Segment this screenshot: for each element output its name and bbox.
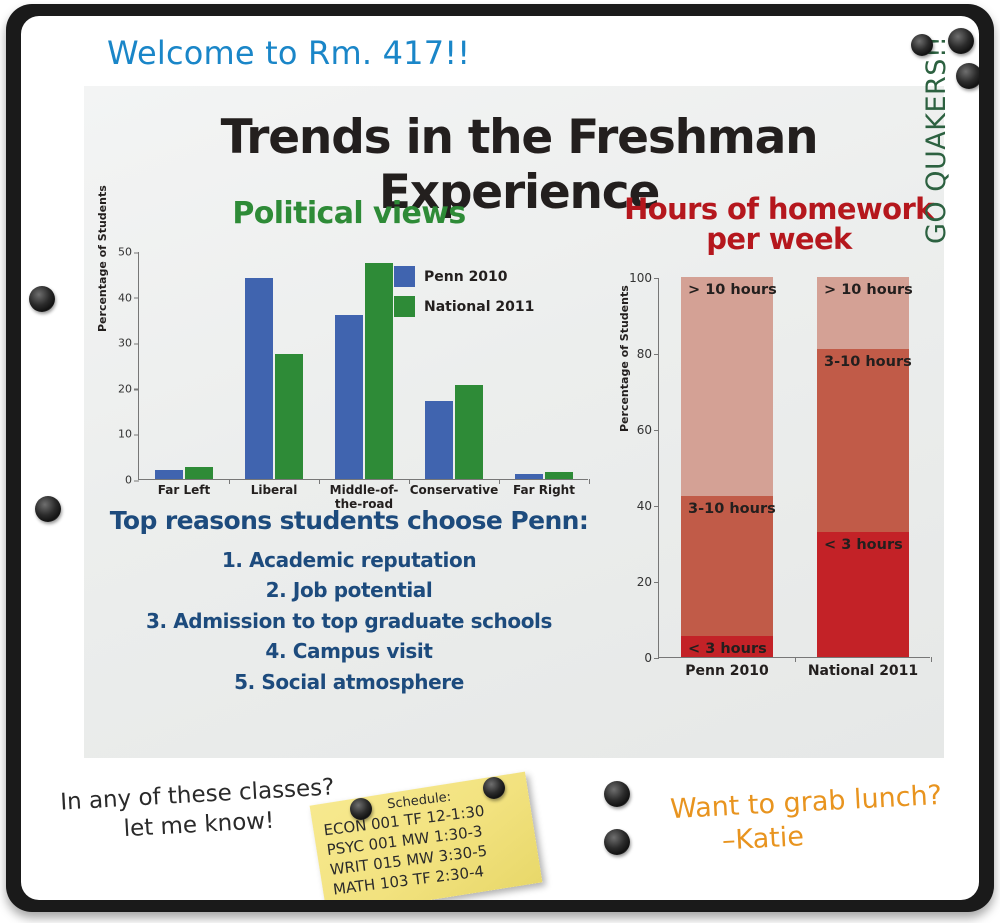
stacked-bar-segment: > 10 hours xyxy=(681,277,773,496)
stacked-chart-plot-area: 020406080100< 3 hours3-10 hours> 10 hour… xyxy=(658,278,930,658)
legend-swatch-icon xyxy=(394,296,415,317)
bar-chart-x-tick: Far Right xyxy=(489,484,599,498)
magnet-icon[interactable] xyxy=(604,829,630,855)
stacked-chart-y-tick: 80 xyxy=(637,347,659,361)
reason-item: 4. Campus visit xyxy=(94,636,604,666)
bar-chart-x-minor-tick xyxy=(229,479,230,484)
stacked-bar-segment-label: < 3 hours xyxy=(688,641,767,657)
infographic-poster: Trends in the Freshman Experience Politi… xyxy=(84,86,944,758)
stacked-chart-y-tick: 20 xyxy=(637,575,659,589)
bar-chart-x-minor-tick xyxy=(409,479,410,484)
magnet-icon[interactable] xyxy=(29,286,55,312)
reason-item: 1. Academic reputation xyxy=(94,545,604,575)
reason-item: 3. Admission to top graduate schools xyxy=(94,606,604,636)
magnet-icon[interactable] xyxy=(956,63,979,89)
bar-group xyxy=(229,252,319,479)
bar-chart-y-tick: 30 xyxy=(118,337,139,350)
homework-hours-title: Hours of homeworkper week xyxy=(614,194,944,254)
stacked-bar-segment: 3-10 hours xyxy=(817,349,909,531)
bar-chart-y-tick: 20 xyxy=(118,382,139,395)
legend-item-national: National 2011 xyxy=(394,296,534,317)
magnet-icon[interactable] xyxy=(35,496,61,522)
homework-hours-title-line: per week xyxy=(614,224,944,254)
magnet-icon[interactable] xyxy=(350,798,372,820)
bar xyxy=(245,278,273,479)
stacked-bar-segment-label: > 10 hours xyxy=(688,282,777,298)
whiteboard-surface: Welcome to Rm. 417!! Trends in the Fresh… xyxy=(21,16,979,900)
stacked-bar-segment-label: 3-10 hours xyxy=(824,354,912,370)
stacked-bar-segment: 3-10 hours xyxy=(681,496,773,637)
stacked-chart-y-tick: 40 xyxy=(637,499,659,513)
bar-chart-y-tick: 10 xyxy=(118,428,139,441)
bar xyxy=(545,472,573,479)
stacked-chart-x-tick: National 2011 xyxy=(793,663,933,679)
stacked-bar-segment-label: < 3 hours xyxy=(824,537,903,553)
magnet-icon[interactable] xyxy=(911,34,933,56)
stacked-chart-x-tick: Penn 2010 xyxy=(657,663,797,679)
stacked-bar-column: < 3 hours3-10 hours> 10 hours xyxy=(817,278,909,657)
reason-item: 5. Social atmosphere xyxy=(94,667,604,697)
bar-chart-x-tick-line: Far Right xyxy=(489,484,599,498)
stacked-bar-segment: > 10 hours xyxy=(817,277,909,349)
stacked-chart-x-minor-tick xyxy=(931,657,932,662)
bar xyxy=(155,470,183,479)
stacked-bar-segment-label: > 10 hours xyxy=(824,282,913,298)
bar xyxy=(335,315,363,479)
political-views-title: Political views xyxy=(94,196,604,231)
stacked-chart-y-axis-label: Percentage of Students xyxy=(618,285,631,432)
bar-chart-y-axis-label: Percentage of Students xyxy=(96,185,109,332)
stacked-bar-segment-label: 3-10 hours xyxy=(688,501,776,517)
bar-chart-legend: Penn 2010 National 2011 xyxy=(394,266,534,326)
legend-label-penn: Penn 2010 xyxy=(424,269,508,285)
homework-hours-chart: Percentage of Students 020406080100< 3 h… xyxy=(614,272,944,712)
classes-note: In any of these classes? let me know! xyxy=(60,773,337,848)
welcome-message: Welcome to Rm. 417!! xyxy=(107,34,470,72)
legend-item-penn: Penn 2010 xyxy=(394,266,534,287)
top-reasons-heading: Top reasons students choose Penn: xyxy=(94,506,604,535)
political-views-chart: Percentage of Students 01020304050Far Le… xyxy=(94,244,604,544)
whiteboard-frame: Welcome to Rm. 417!! Trends in the Fresh… xyxy=(6,4,994,912)
bar xyxy=(365,263,393,479)
bar-chart-x-minor-tick xyxy=(589,479,590,484)
magnet-icon[interactable] xyxy=(604,781,630,807)
legend-swatch-icon xyxy=(394,266,415,287)
homework-hours-panel: Hours of homeworkper week Percentage of … xyxy=(614,194,944,754)
bar-group xyxy=(139,252,229,479)
bar xyxy=(515,474,543,479)
lunch-note: Want to grab lunch? –Katie xyxy=(669,779,944,861)
top-reasons-section: Top reasons students choose Penn: 1. Aca… xyxy=(94,506,604,697)
bar xyxy=(275,354,303,479)
reason-item: 2. Job potential xyxy=(94,575,604,605)
schedule-sticky-note[interactable]: Schedule: ECON 001 TF 12-1:30PSYC 001 MW… xyxy=(310,772,543,900)
magnet-icon[interactable] xyxy=(483,777,505,799)
top-reasons-list: 1. Academic reputation2. Job potential3.… xyxy=(94,545,604,697)
bar xyxy=(425,401,453,479)
stacked-bar-segment: < 3 hours xyxy=(817,532,909,657)
bar-chart-y-tick: 40 xyxy=(118,291,139,304)
stacked-chart-x-minor-tick xyxy=(795,657,796,662)
stacked-chart-y-tick: 100 xyxy=(629,271,659,285)
stacked-bar-column: < 3 hours3-10 hours> 10 hours xyxy=(681,278,773,657)
homework-hours-title-line: Hours of homework xyxy=(614,194,944,224)
bar-chart-x-minor-tick xyxy=(319,479,320,484)
legend-label-national: National 2011 xyxy=(424,299,534,315)
stacked-chart-y-tick: 60 xyxy=(637,423,659,437)
stacked-bar-segment: < 3 hours xyxy=(681,636,773,657)
magnet-icon[interactable] xyxy=(948,28,974,54)
bar-chart-y-tick: 50 xyxy=(118,246,139,259)
go-quakers-note: GO QUAKERS!! xyxy=(921,35,952,244)
bar xyxy=(185,467,213,479)
bar xyxy=(455,385,483,479)
bar-chart-x-minor-tick xyxy=(499,479,500,484)
